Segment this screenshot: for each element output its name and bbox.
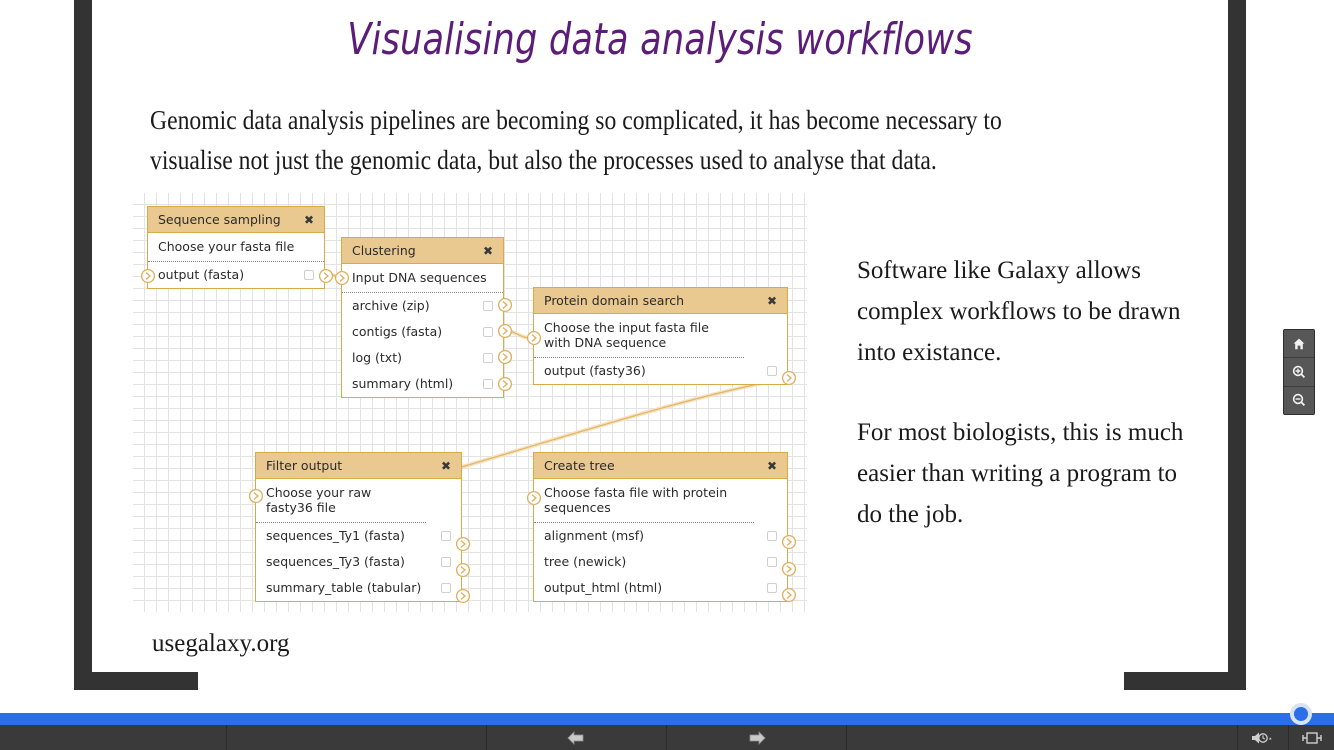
input-terminal-icon[interactable] bbox=[526, 330, 542, 346]
node-output-label: archive (zip) bbox=[352, 298, 430, 314]
node-output-row[interactable]: summary_table (tabular) bbox=[256, 575, 461, 601]
node-header[interactable]: Sequence sampling ✖ bbox=[148, 207, 324, 233]
output-terminal-icon[interactable] bbox=[497, 323, 513, 339]
output-toggle-box[interactable] bbox=[304, 270, 314, 280]
node-input-row[interactable]: Choose the input fasta file with DNA seq… bbox=[534, 314, 744, 358]
node-header[interactable]: Protein domain search ✖ bbox=[534, 288, 787, 314]
output-toggle-box[interactable] bbox=[767, 366, 777, 376]
output-toggle-box[interactable] bbox=[767, 531, 777, 541]
input-terminal-icon[interactable] bbox=[248, 488, 264, 504]
output-terminal-icon[interactable] bbox=[781, 561, 797, 577]
intro-paragraph: Genomic data analysis pipelines are beco… bbox=[150, 100, 1040, 180]
side-paragraph-1: Software like Galaxy allows complex work… bbox=[857, 250, 1187, 373]
node-title: Create tree bbox=[544, 458, 615, 473]
node-body: Choose the input fasta file with DNA seq… bbox=[534, 314, 787, 384]
node-title: Sequence sampling bbox=[158, 212, 281, 227]
node-output-row[interactable]: output_html (html) bbox=[534, 575, 787, 601]
node-output-row[interactable]: log (txt) bbox=[342, 345, 503, 371]
close-icon[interactable]: ✖ bbox=[483, 245, 495, 257]
node-input-row[interactable]: Input DNA sequences bbox=[342, 264, 503, 293]
node-output-label: tree (newick) bbox=[544, 554, 626, 570]
workflow-node-filter-output[interactable]: Filter output ✖ Choose your raw fasty36 … bbox=[255, 452, 462, 602]
node-output-label: alignment (msf) bbox=[544, 528, 644, 544]
node-output-label: summary (html) bbox=[352, 376, 453, 392]
node-output-row[interactable]: tree (newick) bbox=[534, 549, 787, 575]
close-icon[interactable]: ✖ bbox=[304, 214, 316, 226]
node-output-label: sequences_Ty1 (fasta) bbox=[266, 528, 405, 544]
frame-border-left bbox=[74, 0, 92, 690]
previous-slide-button[interactable] bbox=[487, 725, 667, 750]
node-input-row[interactable]: Choose your raw fasty36 file bbox=[256, 479, 426, 523]
output-terminal-icon[interactable] bbox=[455, 588, 471, 604]
toolbar-spacer-3 bbox=[847, 725, 1238, 750]
node-output-row[interactable]: sequences_Ty1 (fasta) bbox=[256, 523, 461, 549]
output-toggle-box[interactable] bbox=[441, 531, 451, 541]
node-output-row[interactable]: alignment (msf) bbox=[534, 523, 787, 549]
fullscreen-icon bbox=[1302, 730, 1322, 746]
node-title: Clustering bbox=[352, 243, 416, 258]
viewer-zoom-controls[interactable] bbox=[1283, 329, 1315, 415]
workflow-canvas: Sequence sampling ✖ Choose your fasta fi… bbox=[133, 193, 807, 612]
frame-border-bottom-right bbox=[1124, 672, 1246, 690]
zoom-in-icon[interactable] bbox=[1284, 358, 1314, 386]
node-output-row[interactable]: output (fasty36) bbox=[534, 358, 787, 384]
close-icon[interactable]: ✖ bbox=[441, 460, 453, 472]
page-title: Visualising data analysis workflows bbox=[206, 14, 1115, 65]
node-output-label: output (fasty36) bbox=[544, 363, 646, 379]
arrow-left-icon bbox=[564, 730, 588, 746]
output-toggle-box[interactable] bbox=[767, 583, 777, 593]
node-header[interactable]: Create tree ✖ bbox=[534, 453, 787, 479]
workflow-node-protein-domain-search[interactable]: Protein domain search ✖ Choose the input… bbox=[533, 287, 788, 385]
zoom-out-icon[interactable] bbox=[1284, 387, 1314, 414]
side-paragraph-2: For most biologists, this is much easier… bbox=[857, 412, 1187, 535]
node-output-label: log (txt) bbox=[352, 350, 402, 366]
output-toggle-box[interactable] bbox=[483, 301, 493, 311]
frame-border-right bbox=[1228, 0, 1246, 690]
output-terminal-icon[interactable] bbox=[497, 297, 513, 313]
node-title: Protein domain search bbox=[544, 293, 684, 308]
node-output-row[interactable]: output (fasta) bbox=[148, 262, 324, 288]
output-terminal-icon[interactable] bbox=[497, 376, 513, 392]
output-toggle-box[interactable] bbox=[483, 379, 493, 389]
output-terminal-icon[interactable] bbox=[781, 370, 797, 386]
playback-progress-knob[interactable] bbox=[1290, 703, 1312, 725]
input-terminal-icon[interactable] bbox=[526, 490, 542, 506]
node-body: Choose fasta file with protein sequences… bbox=[534, 479, 787, 601]
output-terminal-icon[interactable] bbox=[455, 536, 471, 552]
input-terminal-icon[interactable] bbox=[140, 268, 156, 284]
toolbar-spacer-2 bbox=[227, 725, 487, 750]
output-terminal-icon[interactable] bbox=[781, 587, 797, 603]
output-toggle-box[interactable] bbox=[441, 583, 451, 593]
workflow-node-sequence-sampling[interactable]: Sequence sampling ✖ Choose your fasta fi… bbox=[147, 206, 325, 289]
node-header[interactable]: Clustering ✖ bbox=[342, 238, 503, 264]
output-toggle-box[interactable] bbox=[483, 327, 493, 337]
node-body: Choose your raw fasty36 file sequences_T… bbox=[256, 479, 461, 601]
output-terminal-icon[interactable] bbox=[318, 268, 334, 284]
audio-timing-button[interactable] bbox=[1238, 725, 1289, 750]
node-output-label: summary_table (tabular) bbox=[266, 580, 421, 596]
node-output-label: output_html (html) bbox=[544, 580, 662, 596]
player-toolbar bbox=[0, 725, 1334, 750]
output-terminal-icon[interactable] bbox=[781, 534, 797, 550]
fullscreen-button[interactable] bbox=[1289, 725, 1334, 750]
source-link-label: usegalaxy.org bbox=[152, 630, 289, 658]
workflow-node-create-tree[interactable]: Create tree ✖ Choose fasta file with pro… bbox=[533, 452, 788, 602]
node-output-row[interactable]: summary (html) bbox=[342, 371, 503, 397]
close-icon[interactable]: ✖ bbox=[767, 295, 779, 307]
node-output-label: sequences_Ty3 (fasta) bbox=[266, 554, 405, 570]
output-terminal-icon[interactable] bbox=[455, 562, 471, 578]
node-header[interactable]: Filter output ✖ bbox=[256, 453, 461, 479]
workflow-node-clustering[interactable]: Clustering ✖ Input DNA sequences archive… bbox=[341, 237, 504, 398]
input-terminal-icon[interactable] bbox=[334, 270, 350, 286]
slide-canvas: Visualising data analysis workflows Geno… bbox=[92, 0, 1228, 672]
node-input-row[interactable]: Choose your fasta file bbox=[148, 233, 324, 262]
output-toggle-box[interactable] bbox=[483, 353, 493, 363]
arrow-right-icon bbox=[745, 730, 769, 746]
speaker-timer-icon bbox=[1250, 730, 1276, 746]
presentation-stage: Visualising data analysis workflows Geno… bbox=[0, 0, 1334, 750]
frame-border-bottom-left bbox=[74, 672, 198, 690]
node-output-label: contigs (fasta) bbox=[352, 324, 442, 340]
node-body: Choose your fasta file output (fasta) bbox=[148, 233, 324, 288]
node-output-row[interactable]: contigs (fasta) bbox=[342, 319, 503, 345]
node-output-row[interactable]: sequences_Ty3 (fasta) bbox=[256, 549, 461, 575]
home-icon[interactable] bbox=[1284, 330, 1314, 358]
node-input-row[interactable]: Choose fasta file with protein sequences bbox=[534, 479, 754, 523]
output-toggle-box[interactable] bbox=[767, 557, 777, 567]
output-terminal-icon[interactable] bbox=[497, 349, 513, 365]
output-toggle-box[interactable] bbox=[441, 557, 451, 567]
toolbar-spacer-1 bbox=[0, 725, 227, 750]
node-title: Filter output bbox=[266, 458, 342, 473]
next-slide-button[interactable] bbox=[667, 725, 847, 750]
node-output-row[interactable]: archive (zip) bbox=[342, 293, 503, 319]
playback-progress-fill bbox=[0, 713, 1300, 725]
node-output-label: output (fasta) bbox=[158, 267, 244, 283]
playback-progress-track[interactable] bbox=[0, 713, 1334, 725]
close-icon[interactable]: ✖ bbox=[767, 460, 779, 472]
node-body: Input DNA sequences archive (zip) contig… bbox=[342, 264, 503, 397]
